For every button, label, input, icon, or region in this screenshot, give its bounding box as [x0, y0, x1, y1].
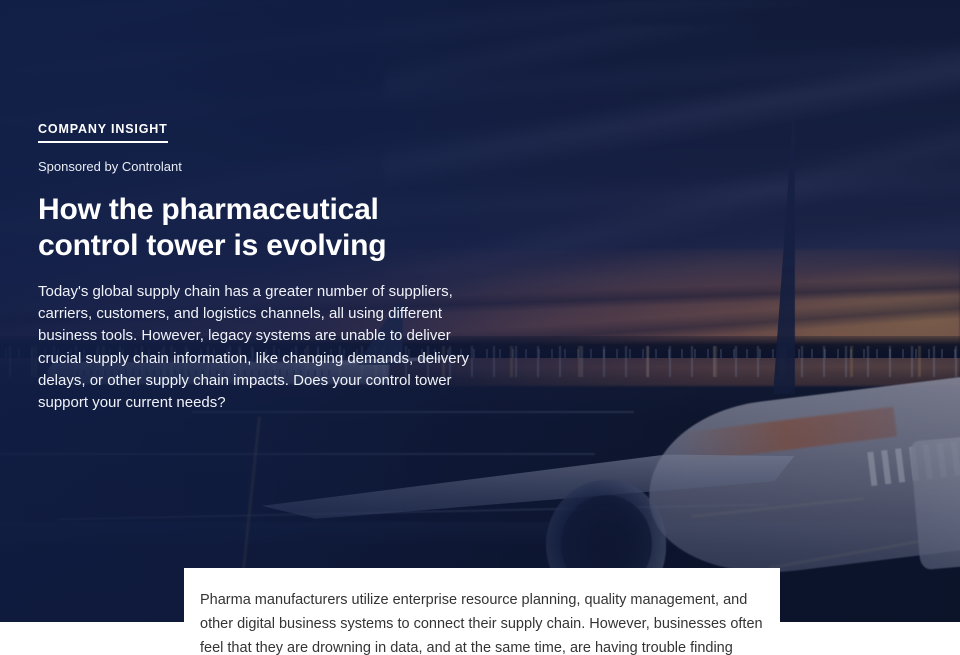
page-title: How the pharmaceutical control tower is …	[38, 192, 398, 264]
hero-copy-block: COMPANY INSIGHT Sponsored by Controlant …	[38, 120, 508, 414]
article-page: COMPANY INSIGHT Sponsored by Controlant …	[0, 0, 960, 655]
article-body-panel: Pharma manufacturers utilize enterprise …	[184, 568, 780, 655]
hero-banner: COMPANY INSIGHT Sponsored by Controlant …	[0, 0, 960, 622]
hero-paragraph: Today's global supply chain has a greate…	[38, 281, 486, 414]
article-paragraph: Pharma manufacturers utilize enterprise …	[184, 568, 780, 655]
sponsor-line: Sponsored by Controlant	[38, 159, 508, 174]
company-insight-label: COMPANY INSIGHT	[38, 122, 168, 143]
